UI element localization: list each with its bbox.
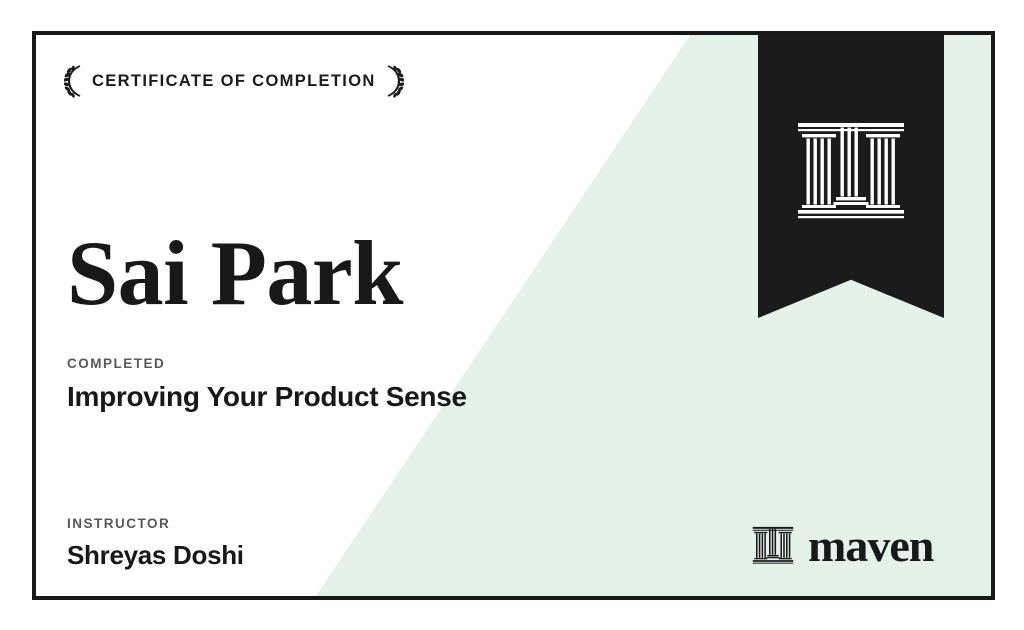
recipient-name: Sai Park	[67, 221, 403, 327]
maven-wordmark: maven	[808, 523, 933, 569]
laurel-branch-right-icon	[385, 64, 404, 98]
laurel-branch-left-icon	[64, 64, 83, 98]
instructor-block: INSTRUCTOR Shreyas Doshi	[67, 517, 244, 571]
completed-label: COMPLETED	[67, 357, 467, 371]
course-block: COMPLETED Improving Your Product Sense	[67, 357, 467, 413]
certificate-content: CERTIFICATE OF COMPLETION	[36, 35, 991, 596]
maven-columns-icon	[752, 525, 794, 567]
course-title: Improving Your Product Sense	[67, 380, 467, 414]
instructor-name: Shreyas Doshi	[67, 540, 244, 571]
certificate-page: CERTIFICATE OF COMPLETION	[0, 0, 1024, 630]
maven-logo: maven	[752, 523, 933, 569]
instructor-label: INSTRUCTOR	[67, 517, 244, 531]
certificate-card: CERTIFICATE OF COMPLETION	[32, 31, 995, 600]
certificate-header: CERTIFICATE OF COMPLETION	[64, 64, 404, 98]
certificate-header-title: CERTIFICATE OF COMPLETION	[92, 73, 376, 90]
